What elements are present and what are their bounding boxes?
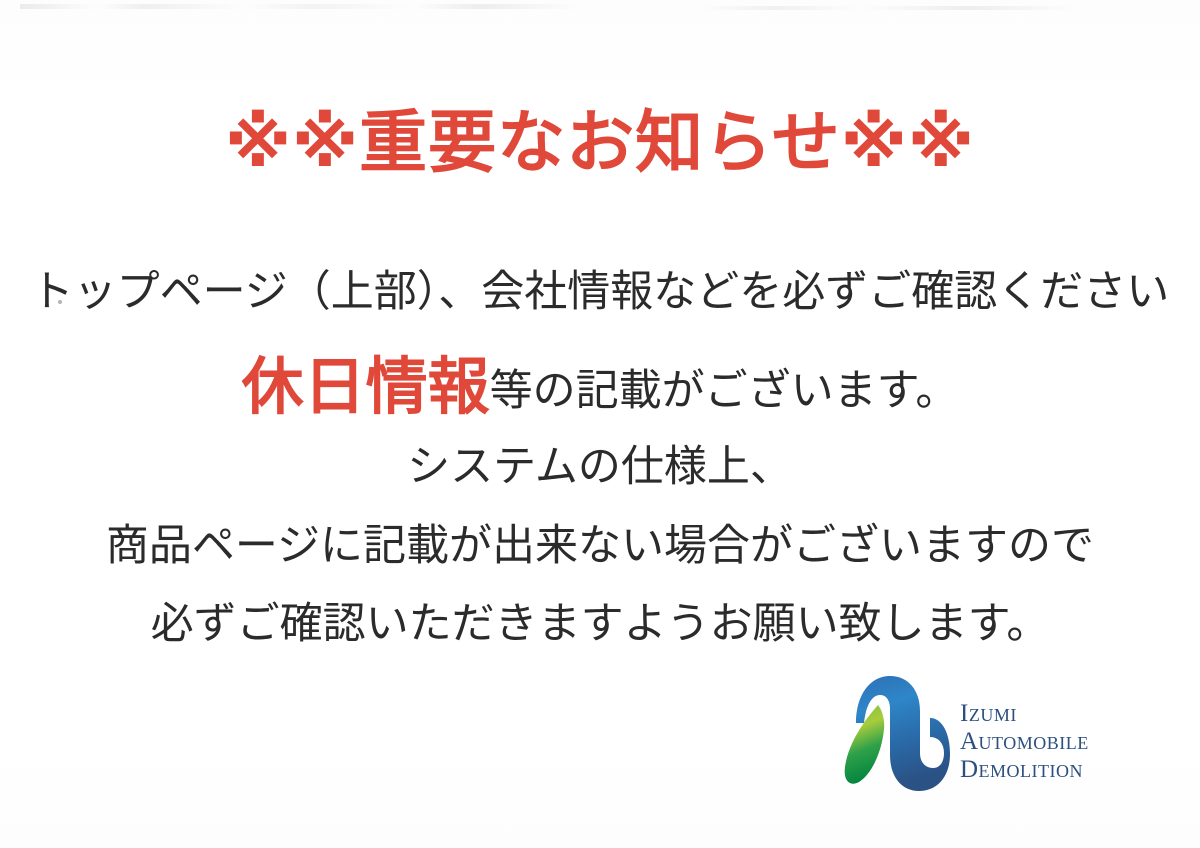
notice-sheet: ※※重要なお知らせ※※ トップページ（上部）、会社情報などを必ずご確認ください … <box>0 0 1200 848</box>
notice-body-line-1: トップページ（上部）、会社情報などを必ずご確認ください <box>0 268 1200 317</box>
izumi-swirl-leaf-icon <box>832 669 950 793</box>
notice-body-line-4: 商品ページに記載が出来ない場合がございますので <box>0 522 1200 571</box>
scan-artifact-top-right <box>700 6 1120 10</box>
notice-headline: ※※重要なお知らせ※※ <box>0 108 1200 179</box>
scan-artifact-top-left <box>20 4 580 9</box>
holiday-info-emphasis: 休日情報 <box>242 353 490 422</box>
notice-body-line-2: 休日情報等の記載がございます。 <box>0 352 1200 423</box>
logo-text-demolition: Demolition <box>960 756 1089 783</box>
logo-text-izumi: Izumi <box>960 700 1089 727</box>
company-logo: Izumi Automobile Demolition <box>832 668 1122 794</box>
logo-wordmark: Izumi Automobile Demolition <box>960 680 1089 783</box>
logo-text-automobile: Automobile <box>960 728 1089 755</box>
notice-body-line-2-rest: 等の記載がございます。 <box>490 367 959 415</box>
notice-body-line-3: システムの仕様上、 <box>0 443 1200 492</box>
notice-body-line-5: 必ずご確認いただきますようお願い致します。 <box>0 600 1200 649</box>
